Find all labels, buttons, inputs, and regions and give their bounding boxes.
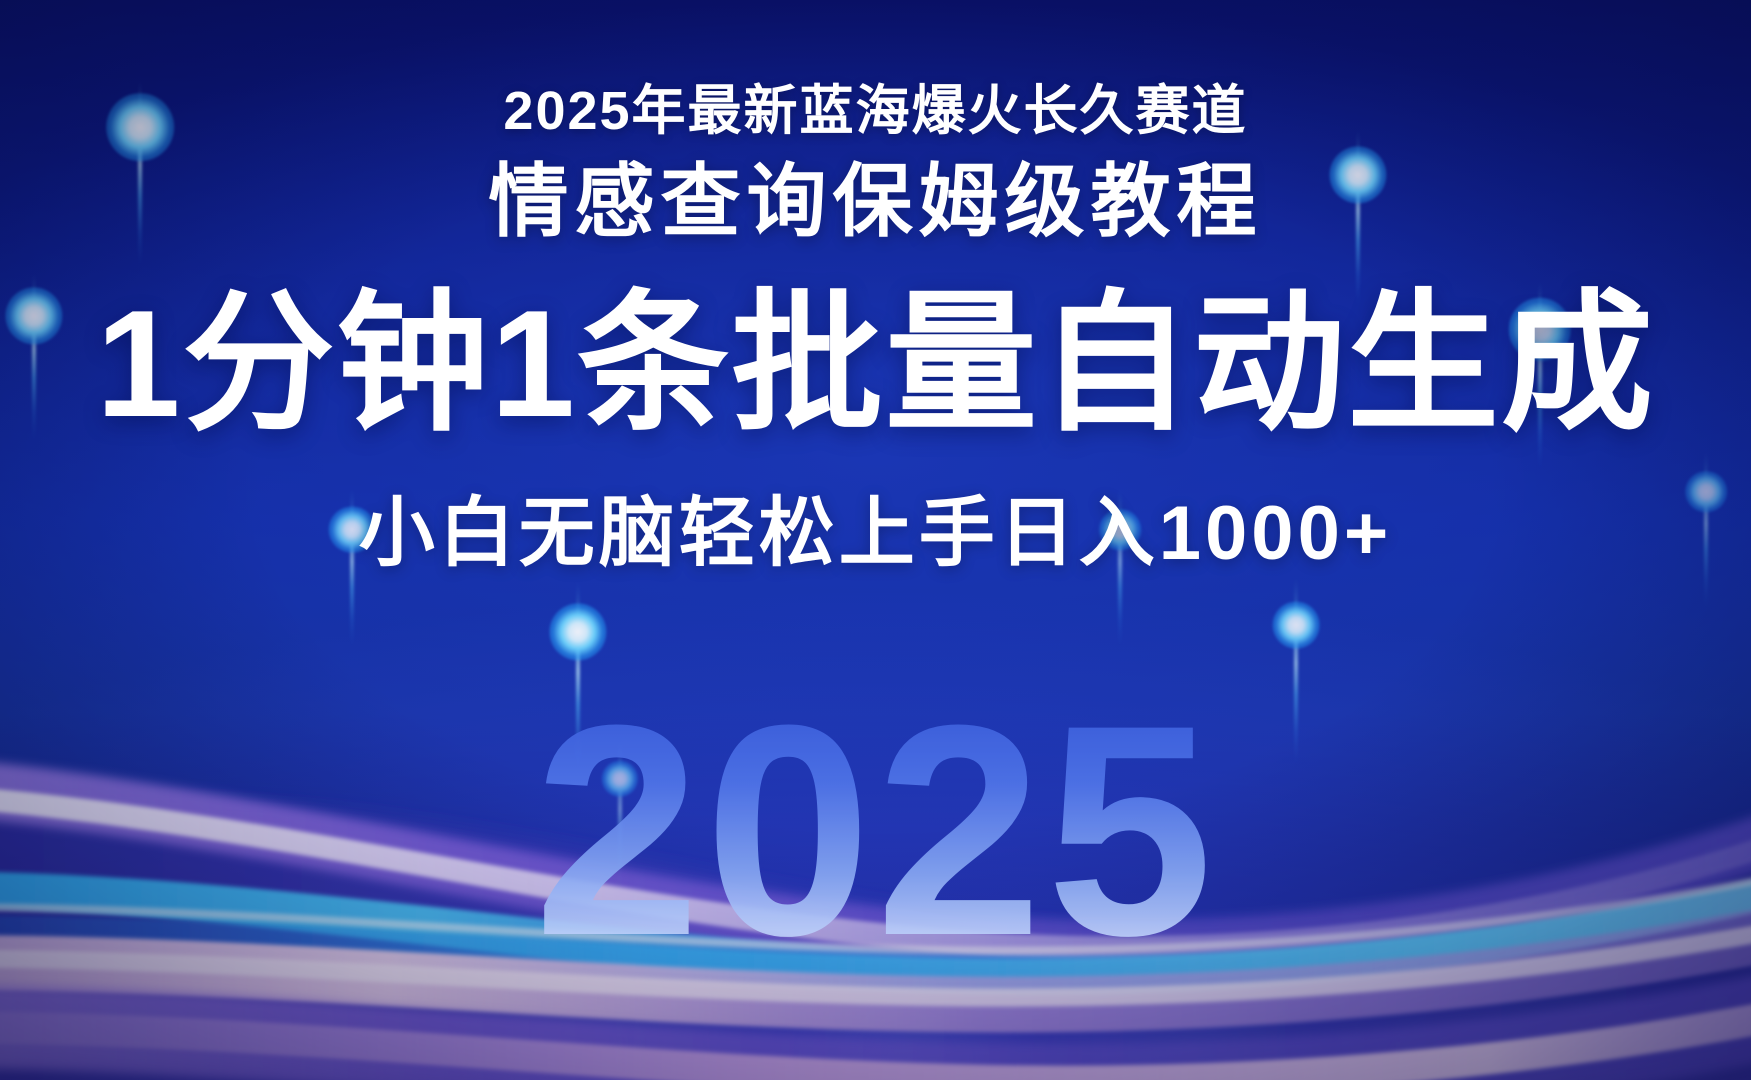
watermark-year: 2025: [0, 680, 1751, 980]
subtitle-bottom: 小白无脑轻松上手日入1000+: [0, 496, 1751, 572]
headline-stack: 2025年最新蓝海爆火长久赛道 情感查询保姆级教程 1分钟1条批量自动生成 小白…: [0, 0, 1751, 572]
main-headline: 1分钟1条批量自动生成: [0, 288, 1751, 440]
promo-poster: 2025 2025年最新蓝海爆火长久赛道 情感查询保姆级教程 1分钟1条批量自动…: [0, 0, 1751, 1080]
eyebrow-text: 2025年最新蓝海爆火长久赛道: [0, 84, 1751, 138]
subtitle-top: 情感查询保姆级教程: [0, 162, 1751, 242]
